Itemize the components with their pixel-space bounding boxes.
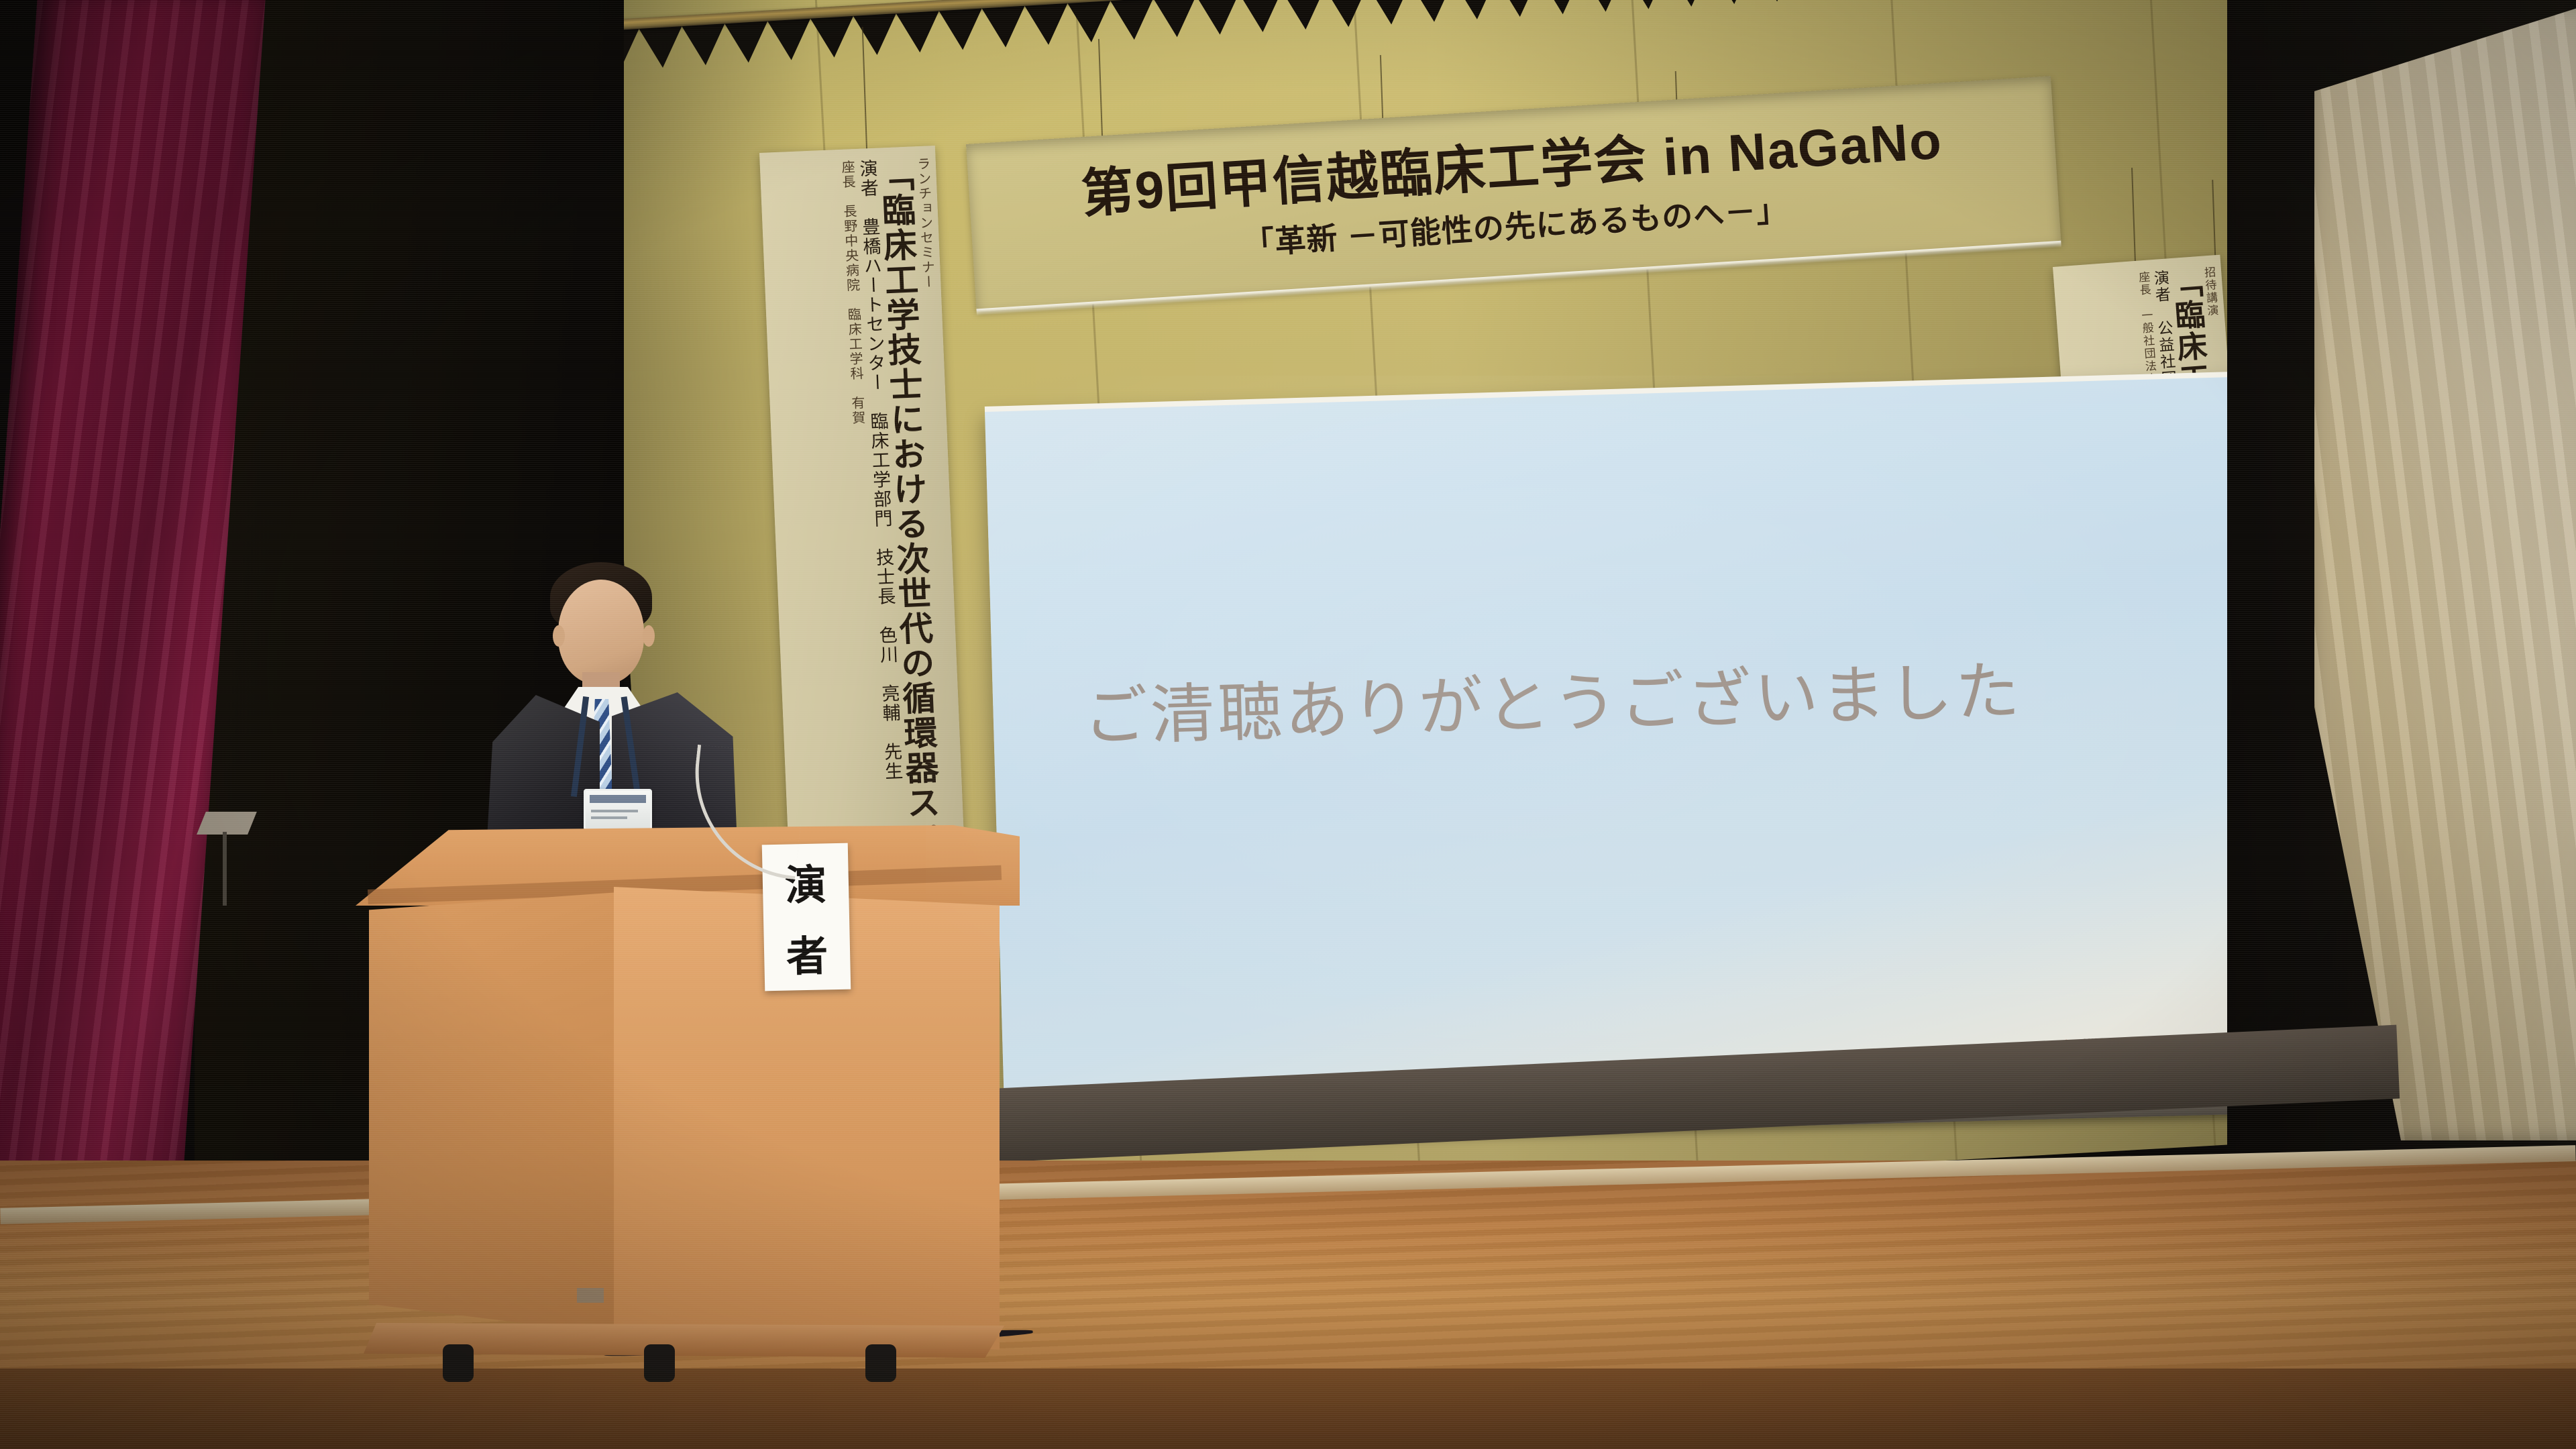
- right-banner-session-type: 招待講演: [2202, 266, 2218, 317]
- speaker-podium: 演 者: [356, 825, 1020, 1382]
- presenter-name-badge: [584, 789, 652, 830]
- podium-caster: [443, 1344, 474, 1382]
- stage-photo-scene: 第9回甲信越臨床工学会 in NaGaNo 「革新 －可能性の先にあるものへ－」…: [0, 0, 2576, 1449]
- music-stand-prop: [201, 812, 252, 906]
- presenter-ear-left: [553, 625, 565, 647]
- slide-thank-you-text: ご清聴ありがとうございました: [1082, 634, 2191, 758]
- presenter-head: [558, 580, 644, 684]
- podium-sign-char-2: 者: [786, 922, 828, 983]
- podium-side-panel: [369, 892, 619, 1335]
- podium-maker-plate: [577, 1288, 604, 1303]
- podium-caster: [644, 1344, 675, 1382]
- left-banner-session-type: ランチョンセミナー: [914, 156, 934, 290]
- podium-caster: [865, 1344, 896, 1382]
- projection-screen: ご清聴ありがとうございました NIIGATA UNIVERSITY OF HEA…: [985, 375, 2291, 1122]
- presenter-ear-right: [643, 625, 655, 647]
